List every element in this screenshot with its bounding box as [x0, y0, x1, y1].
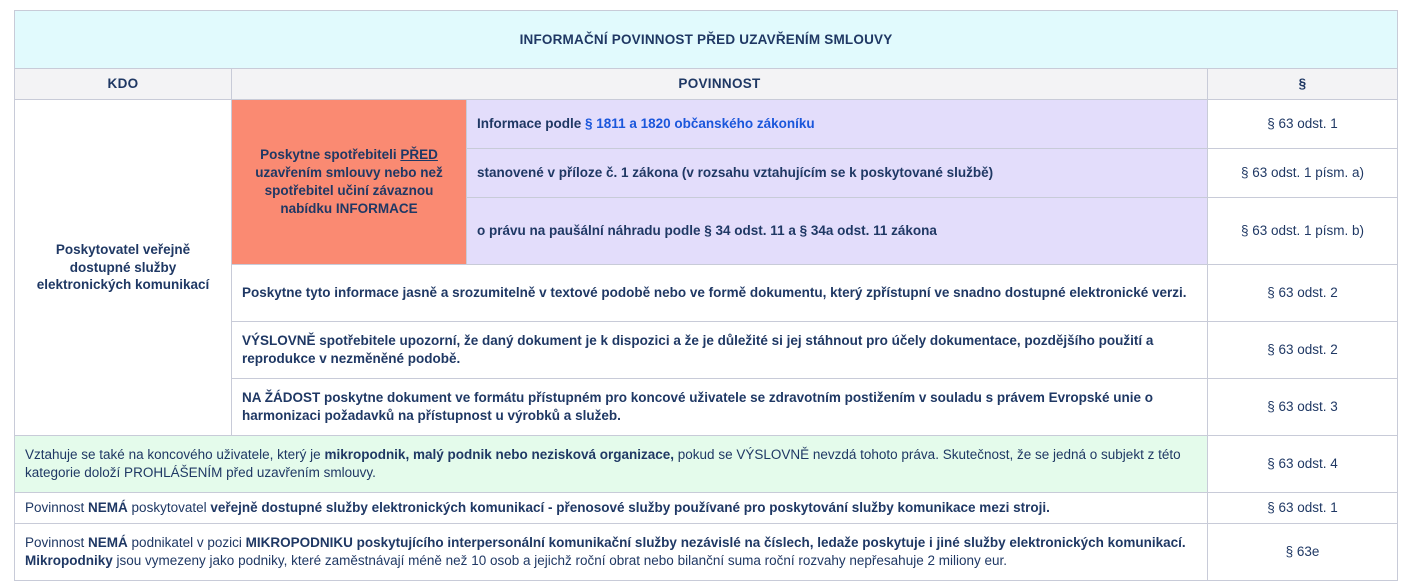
subject-cell: Poskytovatel veřejně dostupné služby ele… — [15, 100, 232, 436]
note-text-bold1: NEMÁ — [88, 500, 128, 515]
note-text-bold2: veřejně dostupné služby elektronických k… — [210, 500, 1050, 515]
purple-duty-cell: o právu na paušální náhradu podle § 34 o… — [467, 198, 1208, 265]
note-text-bold1: NEMÁ — [88, 535, 128, 550]
title-row: INFORMAČNÍ POVINNOST PŘED UZAVŘENÍM SMLO… — [15, 11, 1398, 69]
paragraph-cell: § 63 odst. 1 písm. b) — [1208, 198, 1398, 265]
orange-lead-cell: Poskytne spotřebiteli PŘED uzavřením sml… — [232, 100, 467, 265]
note-text-part1: Povinnost — [25, 535, 88, 550]
purple-duty-cell: Informace podle § 1811 a 1820 občanského… — [467, 100, 1208, 149]
orange-text-underlined: PŘED — [400, 147, 438, 162]
information-duty-table: INFORMAČNÍ POVINNOST PŘED UZAVŘENÍM SMLO… — [14, 10, 1397, 581]
paragraph-cell: § 63 odst. 3 — [1208, 379, 1398, 436]
note-text-part2: poskytovatel — [128, 500, 211, 515]
obligation-cell: NA ŽÁDOST poskytne dokument ve formátu p… — [232, 379, 1208, 436]
paragraph-cell: § 63 odst. 2 — [1208, 265, 1398, 322]
paragraph-cell: § 63 odst. 1 — [1208, 493, 1398, 524]
page-title: INFORMAČNÍ POVINNOST PŘED UZAVŘENÍM SMLO… — [15, 11, 1398, 69]
paragraph-cell: § 63 odst. 1 — [1208, 100, 1398, 149]
orange-text-part1: Poskytne spotřebiteli — [260, 147, 400, 162]
table-row: Povinnost NEMÁ poskytovatel veřejně dost… — [15, 493, 1398, 524]
note-text-part2: podnikatel v pozici — [128, 535, 246, 550]
purple-duty-cell: stanovené v příloze č. 1 zákona (v rozsa… — [467, 149, 1208, 198]
paragraph-cell: § 63 odst. 4 — [1208, 436, 1398, 493]
green-text-bold1: mikropodnik, malý podnik nebo nezisková … — [324, 447, 674, 462]
purple-text-plain: Informace podle — [477, 116, 585, 131]
header-row: KDO POVINNOST § — [15, 69, 1398, 100]
note-text-part3: jsou vymezeny jako podniky, které zaměst… — [113, 553, 1007, 568]
paragraph-cell: § 63 odst. 2 — [1208, 322, 1398, 379]
obligation-cell: Poskytne tyto informace jasně a srozumit… — [232, 265, 1208, 322]
duty-table: INFORMAČNÍ POVINNOST PŘED UZAVŘENÍM SMLO… — [14, 10, 1398, 581]
scope-extension-cell: Vztahuje se také na koncového uživatele,… — [15, 436, 1208, 493]
law-reference-link[interactable]: § 1811 a 1820 občanského zákoníku — [585, 116, 815, 131]
green-text-part1: Vztahuje se také na koncového uživatele,… — [25, 447, 324, 462]
paragraph-cell: § 63 odst. 1 písm. a) — [1208, 149, 1398, 198]
orange-text-part2: uzavřením smlouvy nebo než spotřebitel u… — [255, 165, 443, 216]
exemption-cell: Povinnost NEMÁ poskytovatel veřejně dost… — [15, 493, 1208, 524]
note-text-part1: Povinnost — [25, 500, 88, 515]
column-header-duty: POVINNOST — [232, 69, 1208, 100]
column-header-paragraph: § — [1208, 69, 1398, 100]
obligation-cell: VÝSLOVNĚ spotřebitele upozorní, že daný … — [232, 322, 1208, 379]
table-row: Vztahuje se také na koncového uživatele,… — [15, 436, 1398, 493]
column-header-who: KDO — [15, 69, 232, 100]
table-row: Poskytovatel veřejně dostupné služby ele… — [15, 100, 1398, 149]
